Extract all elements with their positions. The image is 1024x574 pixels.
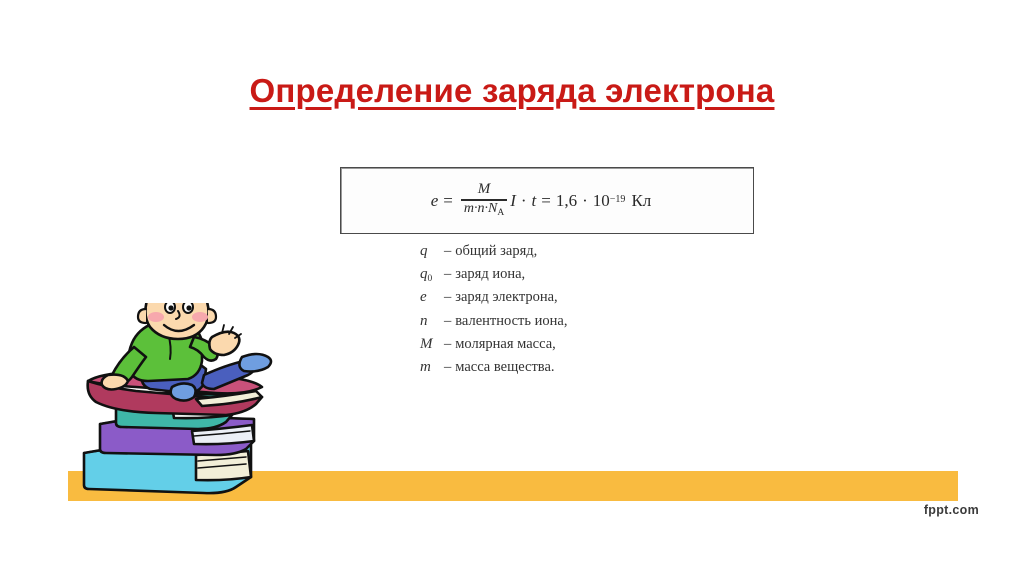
- formula-value: 1,6: [556, 192, 577, 209]
- legend-description: заряд электрона,: [455, 289, 557, 305]
- list-item: e–заряд электрона,: [420, 288, 567, 311]
- formula-expression: e = M m·n·NA I · t = 1,6 · 10−19 Кл: [431, 182, 652, 218]
- fppt-watermark: fppt.com: [924, 503, 979, 517]
- formula-lhs: e: [431, 192, 439, 209]
- legend-symbol-subscript: 0: [428, 274, 433, 284]
- formula-denominator: m·n·NA: [461, 201, 507, 219]
- formula-denominator-n: n: [477, 201, 484, 216]
- legend-symbol: q: [420, 242, 444, 265]
- legend-symbol-text: m: [420, 359, 431, 375]
- legend-symbol-text: q: [420, 266, 428, 282]
- legend-symbol: n: [420, 312, 444, 335]
- list-item: q–общий заряд,: [420, 242, 567, 265]
- legend-description: масса вещества.: [455, 359, 554, 375]
- formula-dot-2: ·: [582, 192, 588, 209]
- legend-symbol: m: [420, 358, 444, 381]
- legend-dash: –: [444, 313, 451, 329]
- list-item: n–валентность иона,: [420, 312, 567, 335]
- legend-symbol-text: q: [420, 243, 428, 259]
- formula-denominator-text: m: [464, 201, 474, 216]
- legend-description: молярная масса,: [455, 336, 556, 352]
- formula-current: I: [510, 192, 516, 209]
- formula-unit: Кл: [631, 192, 651, 209]
- formula-denominator-na: N: [488, 201, 497, 216]
- formula-equals-2: =: [541, 192, 551, 209]
- formula-power-exponent: −19: [610, 195, 626, 205]
- shoe-left: [171, 383, 196, 400]
- legend-description: валентность иона,: [455, 313, 567, 329]
- legend-symbol: e: [420, 288, 444, 311]
- legend-symbol: q0: [420, 265, 444, 288]
- hand-left: [102, 375, 128, 390]
- list-item: M–молярная масса,: [420, 335, 567, 358]
- list-item: m–масса вещества.: [420, 358, 567, 381]
- slide-canvas: Определение заряда электрона e = M m·n·N…: [0, 0, 1024, 574]
- legend-description: общий заряд,: [455, 243, 537, 259]
- boy-on-books-illustration: [76, 303, 286, 503]
- legend-symbol-text: M: [420, 336, 433, 352]
- legend-list: q–общий заряд, q0–заряд иона, e–заряд эл…: [420, 242, 567, 381]
- formula-equals: =: [443, 192, 453, 209]
- formula-power-base: 10: [593, 192, 610, 209]
- legend-dash: –: [444, 289, 451, 305]
- formula-denominator-subscript: A: [497, 208, 504, 218]
- legend-dash: –: [444, 336, 451, 352]
- legend-symbol-text: e: [420, 289, 427, 305]
- legend-symbol-text: n: [420, 313, 428, 329]
- shoe-right: [239, 354, 271, 372]
- formula-dot-1: ·: [521, 192, 527, 209]
- legend-dash: –: [444, 266, 451, 282]
- legend-dash: –: [444, 359, 451, 375]
- formula-box: e = M m·n·NA I · t = 1,6 · 10−19 Кл: [340, 167, 754, 234]
- legend-description: заряд иона,: [455, 266, 525, 282]
- formula-time: t: [532, 192, 537, 209]
- hand-right-waving: [209, 332, 239, 355]
- legend-symbol: M: [420, 335, 444, 358]
- formula-numerator: M: [472, 182, 497, 199]
- page-title: Определение заряда электрона: [0, 72, 1024, 110]
- formula-fraction: M m·n·NA: [461, 182, 507, 218]
- legend-dash: –: [444, 243, 451, 259]
- list-item: q0–заряд иона,: [420, 265, 567, 288]
